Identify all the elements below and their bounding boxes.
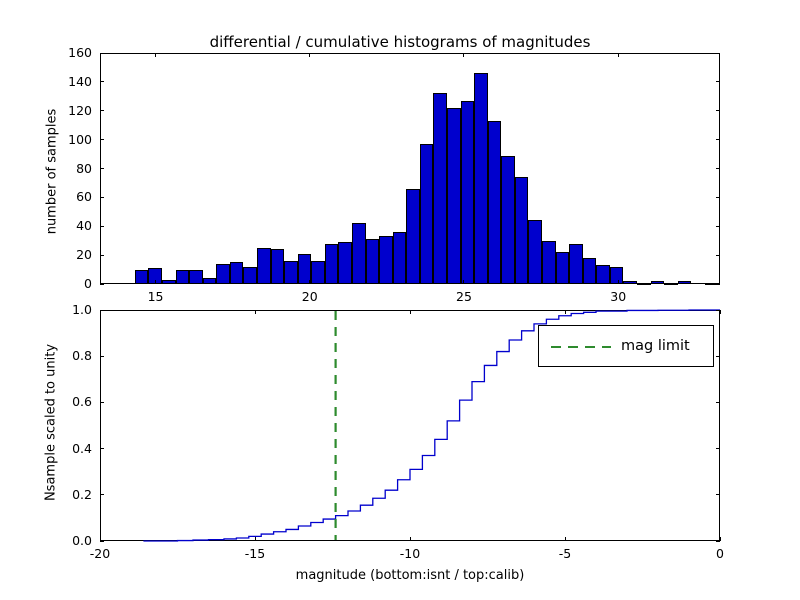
y-tick-top-right [716, 168, 720, 169]
x-tick-top-upper [155, 53, 156, 57]
y-tick-top [100, 168, 104, 169]
table-row-bar-5 [203, 278, 217, 284]
x-tick-bot-upper [565, 310, 566, 314]
table-row-bar-37 [637, 283, 651, 285]
y-tick-top [100, 197, 104, 198]
y-tick-top-right [716, 139, 720, 140]
table-row-bar-23 [447, 108, 461, 284]
table-row-bar-0 [135, 270, 149, 284]
y-tick-bot-right [716, 494, 720, 495]
y-tick-label-top: 80 [0, 161, 92, 176]
bottom-axis-xlabel: magnitude (bottom:isnt / top:calib) [100, 568, 720, 583]
y-tick-label-bot: 1.0 [0, 302, 92, 317]
table-row-bar-13 [311, 261, 325, 284]
y-tick-top-right [716, 110, 720, 111]
bottom-axis-ylabel: Nsample scaled to unity [44, 303, 59, 543]
y-tick-top-right [716, 81, 720, 82]
table-row-bar-3 [176, 270, 190, 284]
x-tick-bot [565, 537, 566, 541]
table-row-bar-39 [664, 283, 678, 285]
table-row-bar-11 [284, 261, 298, 284]
table-row-bar-15 [338, 242, 352, 284]
y-tick-top-right [716, 255, 720, 256]
y-tick-top [100, 81, 104, 82]
x-tick-label-top: 25 [444, 289, 484, 304]
table-row-bar-32 [569, 244, 583, 284]
table-row-bar-4 [189, 270, 203, 284]
table-row-bar-17 [366, 239, 380, 284]
x-tick-bot-upper [100, 310, 101, 314]
table-row-bar-25 [474, 73, 488, 284]
x-tick-bot [255, 537, 256, 541]
y-tick-bot-right [716, 448, 720, 449]
y-tick-label-bot: 0.6 [0, 394, 92, 409]
y-tick-top-right [716, 284, 720, 285]
y-tick-label-top: 120 [0, 103, 92, 118]
table-row-bar-40 [678, 281, 692, 284]
x-tick-bot-upper [255, 310, 256, 314]
y-tick-top-right [716, 197, 720, 198]
table-row-bar-38 [651, 281, 665, 284]
table-row-bar-22 [433, 93, 447, 284]
y-tick-bot [100, 448, 104, 449]
y-tick-label-top: 0 [0, 276, 92, 291]
x-tick-label-top: 20 [290, 289, 330, 304]
table-row-bar-14 [325, 244, 339, 284]
x-tick-top [618, 280, 619, 284]
table-row-bar-21 [420, 144, 434, 284]
y-tick-top [100, 255, 104, 256]
x-tick-top [309, 280, 310, 284]
table-row-bar-16 [352, 223, 366, 284]
x-tick-bot [720, 537, 721, 541]
table-row-bar-34 [596, 265, 610, 284]
y-tick-bot [100, 402, 104, 403]
y-tick-top [100, 284, 104, 285]
x-tick-label-bot: 0 [695, 546, 745, 561]
y-tick-bot-right [716, 356, 720, 357]
y-tick-top-right [716, 226, 720, 227]
y-tick-bot [100, 494, 104, 495]
x-tick-label-bot: -15 [230, 546, 280, 561]
table-row-bar-8 [243, 267, 257, 284]
table-row-bar-7 [230, 262, 244, 284]
table-row-bar-36 [623, 281, 637, 284]
y-tick-label-top: 140 [0, 74, 92, 89]
table-row-bar-6 [216, 264, 230, 284]
y-tick-label-top: 60 [0, 189, 92, 204]
figure: differential / cumulative histograms of … [0, 0, 800, 600]
y-tick-label-bot: 0.2 [0, 487, 92, 502]
table-row-bar-24 [461, 101, 475, 284]
x-tick-bot-upper [410, 310, 411, 314]
table-row-bar-28 [515, 177, 529, 284]
x-tick-label-top: 30 [598, 289, 638, 304]
legend: mag limit [538, 325, 714, 367]
y-tick-label-bot: 0.8 [0, 348, 92, 363]
y-tick-top [100, 139, 104, 140]
table-row-bar-19 [393, 232, 407, 284]
y-tick-label-top: 20 [0, 247, 92, 262]
chart-title: differential / cumulative histograms of … [0, 33, 800, 51]
table-row-bar-33 [583, 258, 597, 284]
x-tick-top [155, 280, 156, 284]
table-row-bar-29 [528, 220, 542, 284]
x-tick-label-bot: -20 [75, 546, 125, 561]
legend-dash-sample [551, 346, 611, 348]
y-tick-label-top: 160 [0, 45, 92, 60]
x-tick-top-upper [309, 53, 310, 57]
y-tick-label-top: 100 [0, 132, 92, 147]
y-tick-bot-right [716, 402, 720, 403]
y-tick-bot [100, 356, 104, 357]
x-tick-bot-upper [720, 310, 721, 314]
x-tick-label-bot: -5 [540, 546, 590, 561]
x-tick-top [463, 280, 464, 284]
table-row-bar-18 [379, 236, 393, 284]
table-row-bar-20 [406, 189, 420, 284]
x-tick-top-upper [463, 53, 464, 57]
x-tick-bot [100, 537, 101, 541]
table-row-bar-26 [488, 121, 502, 284]
y-tick-bot [100, 310, 104, 311]
table-row-bar-30 [542, 241, 556, 284]
x-tick-bot [410, 537, 411, 541]
table-row-bar-31 [556, 252, 570, 284]
x-tick-label-bot: -10 [385, 546, 435, 561]
y-tick-bot [100, 541, 104, 542]
legend-label-mag-limit: mag limit [621, 338, 690, 354]
y-tick-top [100, 110, 104, 111]
y-tick-top [100, 53, 104, 54]
y-tick-top-right [716, 53, 720, 54]
table-row-bar-9 [257, 248, 271, 284]
table-row-bar-35 [610, 267, 624, 284]
y-tick-label-top: 40 [0, 218, 92, 233]
table-row-bar-27 [501, 156, 515, 284]
y-tick-label-bot: 0.4 [0, 441, 92, 456]
table-row-bar-2 [162, 280, 176, 284]
table-row-bar-10 [271, 249, 285, 284]
x-tick-top-upper [618, 53, 619, 57]
y-tick-top [100, 226, 104, 227]
x-tick-label-top: 15 [136, 289, 176, 304]
